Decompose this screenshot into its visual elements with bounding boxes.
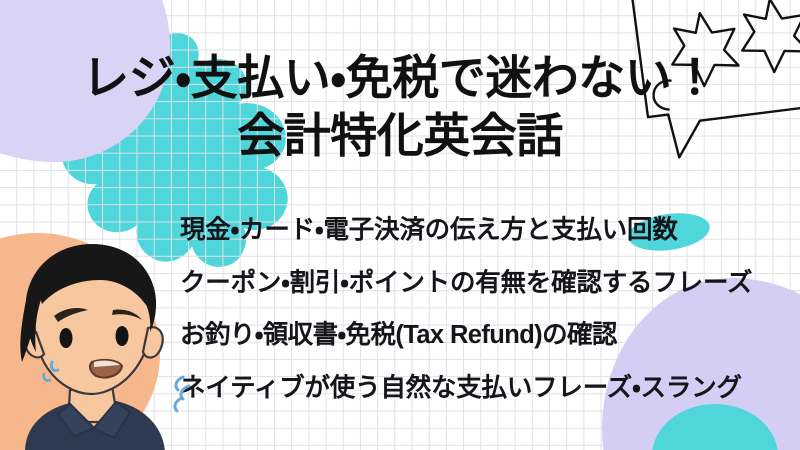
list-item: ネイティブが使う自然な支払いフレーズ・スラング <box>180 376 798 402</box>
sweat-drop <box>44 374 50 381</box>
feature-list: 現金・カード・電子決済の伝え方と支払い回数 クーポン・割引・ポイントの有無を確認… <box>180 218 798 401</box>
sweat-mark-group <box>167 374 193 414</box>
sweat-drop <box>175 398 182 411</box>
page-title: レジ・支払い・免税で迷わない！ 会計特化英会話 <box>0 54 800 160</box>
list-item: お釣り・領収書・免税(Tax Refund)の確認 <box>180 323 798 349</box>
thumbnail-canvas: レジ・支払い・免税で迷わない！ 会計特化英会話 <box>0 0 800 450</box>
character-illustration <box>8 240 190 450</box>
title-line-1: レジ・支払い・免税で迷わない！ <box>0 54 800 102</box>
eye-left <box>60 328 73 348</box>
title-line-2: 会計特化英会話 <box>0 112 800 160</box>
list-item: クーポン・割引・ポイントの有無を確認するフレーズ <box>180 271 798 297</box>
eye-right <box>116 326 129 346</box>
list-item: 現金・カード・電子決済の伝え方と支払い回数 <box>180 218 798 244</box>
sweat-drop <box>176 377 183 390</box>
